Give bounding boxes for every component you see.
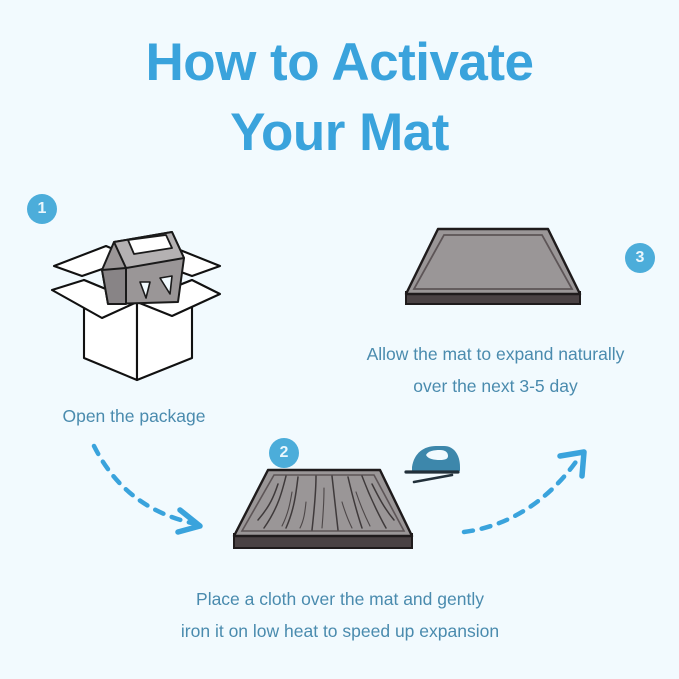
- step-badge-3: 3: [625, 243, 655, 273]
- arrow-step2-to-step3: [458, 436, 598, 546]
- step-1-caption: Open the package: [0, 400, 268, 432]
- arrow-step1-to-step2: [88, 438, 223, 548]
- step-2-caption: Place a cloth over the mat and gently ir…: [128, 583, 552, 648]
- page-title: How to Activate Your Mat: [0, 28, 679, 168]
- open-box-illustration: [42, 218, 227, 388]
- step-2-caption-line-2: iron it on low heat to speed up expansio…: [128, 615, 552, 647]
- infographic-canvas: How to Activate Your Mat: [0, 0, 679, 679]
- step-3-caption-line-2: over the next 3-5 day: [312, 370, 679, 402]
- wrinkled-mat-illustration: [228, 462, 418, 567]
- step-3-caption: Allow the mat to expand naturally over t…: [312, 338, 679, 403]
- step-badge-1: 1: [27, 194, 57, 224]
- title-line-2: Your Mat: [0, 98, 679, 168]
- step-badge-2: 2: [269, 438, 299, 468]
- step-3-caption-line-1: Allow the mat to expand naturally: [312, 338, 679, 370]
- flat-mat-illustration: [398, 222, 588, 327]
- iron-icon: [398, 441, 464, 492]
- step-2-caption-line-1: Place a cloth over the mat and gently: [128, 583, 552, 615]
- title-line-1: How to Activate: [0, 28, 679, 98]
- step-1-caption-line-1: Open the package: [0, 400, 268, 432]
